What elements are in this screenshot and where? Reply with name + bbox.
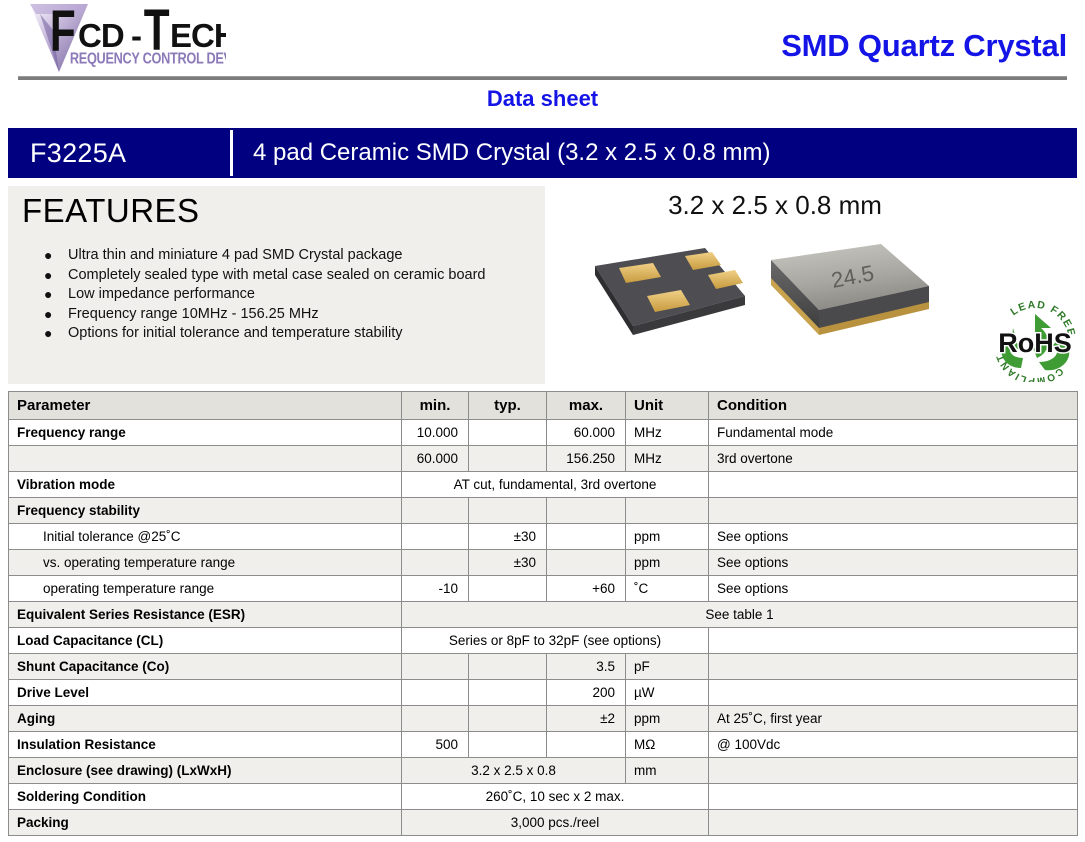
cell-max: ±2 [547, 706, 626, 732]
cell-condition: See options [709, 576, 1078, 602]
cell-max [547, 732, 626, 758]
part-banner: F3225A 4 pad Ceramic SMD Crystal (3.2 x … [8, 128, 1077, 178]
cell-span-value: 3,000 pcs./reel [402, 810, 709, 836]
cell-span-value: AT cut, fundamental, 3rd overtone [402, 472, 709, 498]
logo-icon: F CD - T ECH REQUENCY CONTROL DEVICES [26, 0, 226, 78]
cell-parameter: Shunt Capacitance (Co) [9, 654, 402, 680]
crystal-package-photo: 24.5 [585, 238, 965, 378]
cell-condition: See options [709, 550, 1078, 576]
rohs-lead-free-icon: LEAD FREE COMPLIANT RoHS [989, 298, 1081, 382]
cell-min [402, 706, 469, 732]
table-row: Shunt Capacitance (Co)3.5pF [9, 654, 1078, 680]
features-panel: FEATURES ●Ultra thin and miniature 4 pad… [8, 186, 545, 384]
cell-parameter: Frequency stability [9, 498, 402, 524]
cell-min [402, 550, 469, 576]
table-row: Initial tolerance @25˚C±30ppmSee options [9, 524, 1078, 550]
cell-parameter: Soldering Condition [9, 784, 402, 810]
cell-min [402, 524, 469, 550]
cell-parameter: Frequency range [9, 420, 402, 446]
specification-table: Parameter min. typ. max. Unit Condition … [8, 391, 1078, 836]
cell-typ: ±30 [469, 550, 547, 576]
cell-typ [469, 446, 547, 472]
feature-item: ●Low impedance performance [36, 285, 486, 305]
col-header-min: min. [402, 392, 469, 420]
feature-item-label: Frequency range 10MHz - 156.25 MHz [68, 306, 319, 322]
cell-unit: MHz [626, 446, 709, 472]
company-logo: F CD - T ECH REQUENCY CONTROL DEVICES [26, 0, 226, 78]
bullet-icon: ● [44, 266, 52, 286]
cell-span-value: Series or 8pF to 32pF (see options) [402, 628, 709, 654]
rohs-wordmark: RoHS [998, 328, 1072, 358]
cell-condition: At 25˚C, first year [709, 706, 1078, 732]
part-description: 4 pad Ceramic SMD Crystal (3.2 x 2.5 x 0… [233, 128, 1077, 178]
cell-unit: MΩ [626, 732, 709, 758]
cell-max [547, 524, 626, 550]
col-header-unit: Unit [626, 392, 709, 420]
bullet-icon: ● [44, 324, 52, 344]
cell-max: 200 [547, 680, 626, 706]
cell-span-value: 260˚C, 10 sec x 2 max. [402, 784, 709, 810]
svg-text:ECH: ECH [170, 17, 226, 54]
cell-condition: Fundamental mode [709, 420, 1078, 446]
cell-condition [709, 472, 1078, 498]
cell-min: -10 [402, 576, 469, 602]
feature-item-label: Completely sealed type with metal case s… [68, 267, 486, 283]
cell-unit: pF [626, 654, 709, 680]
cell-span-value: 3.2 x 2.5 x 0.8 [402, 758, 626, 784]
table-row: Drive Level200µW [9, 680, 1078, 706]
features-heading: FEATURES [22, 192, 200, 230]
table-row: Load Capacitance (CL)Series or 8pF to 32… [9, 628, 1078, 654]
table-row: Aging±2ppmAt 25˚C, first year [9, 706, 1078, 732]
cell-max [547, 498, 626, 524]
cell-max [547, 550, 626, 576]
cell-typ [469, 576, 547, 602]
product-image-area: 3.2 x 2.5 x 0.8 mm [545, 186, 1085, 384]
table-header-row: Parameter min. typ. max. Unit Condition [9, 392, 1078, 420]
table-row: Enclosure (see drawing) (LxWxH)3.2 x 2.5… [9, 758, 1078, 784]
cell-condition: 3rd overtone [709, 446, 1078, 472]
cell-parameter: Equivalent Series Resistance (ESR) [9, 602, 402, 628]
cell-unit: ppm [626, 706, 709, 732]
cell-typ [469, 654, 547, 680]
logo-tagline: REQUENCY CONTROL DEVICES [70, 51, 226, 69]
feature-item: ●Options for initial tolerance and tempe… [36, 324, 486, 344]
cell-condition [709, 498, 1078, 524]
table-row: Equivalent Series Resistance (ESR)See ta… [9, 602, 1078, 628]
cell-condition [709, 680, 1078, 706]
cell-min: 10.000 [402, 420, 469, 446]
cell-unit: MHz [626, 420, 709, 446]
cell-min [402, 680, 469, 706]
page-title: SMD Quartz Crystal [781, 28, 1067, 64]
bullet-icon: ● [44, 246, 52, 266]
cell-condition [709, 810, 1078, 836]
cell-unit: mm [626, 758, 709, 784]
cell-parameter: Enclosure (see drawing) (LxWxH) [9, 758, 402, 784]
part-number: F3225A [8, 128, 230, 178]
cell-parameter [9, 446, 402, 472]
cell-min: 60.000 [402, 446, 469, 472]
cell-max: +60 [547, 576, 626, 602]
cell-parameter: vs. operating temperature range [9, 550, 402, 576]
table-row: vs. operating temperature range±30ppmSee… [9, 550, 1078, 576]
cell-parameter: Insulation Resistance [9, 732, 402, 758]
features-list: ●Ultra thin and miniature 4 pad SMD Crys… [36, 246, 486, 344]
cell-unit: µW [626, 680, 709, 706]
svg-text:CD: CD [78, 17, 124, 54]
cell-typ [469, 706, 547, 732]
bullet-icon: ● [44, 285, 52, 305]
cell-condition [709, 784, 1078, 810]
cell-max: 3.5 [547, 654, 626, 680]
header-divider [18, 76, 1067, 80]
table-row: Vibration modeAT cut, fundamental, 3rd o… [9, 472, 1078, 498]
cell-parameter: Drive Level [9, 680, 402, 706]
col-header-condition: Condition [709, 392, 1078, 420]
table-row: operating temperature range-10+60˚C See … [9, 576, 1078, 602]
cell-min [402, 654, 469, 680]
cell-typ: ±30 [469, 524, 547, 550]
feature-item-label: Ultra thin and miniature 4 pad SMD Cryst… [68, 247, 402, 263]
feature-item: ●Ultra thin and miniature 4 pad SMD Crys… [36, 246, 486, 266]
package-dimensions-label: 3.2 x 2.5 x 0.8 mm [545, 190, 1005, 221]
cell-condition: See options [709, 524, 1078, 550]
table-body: Frequency range10.00060.000MHzFundamenta… [9, 420, 1078, 836]
cell-min [402, 498, 469, 524]
crystal-top-view: 24.5 [771, 244, 929, 335]
svg-text:-: - [131, 17, 142, 54]
cell-unit: ˚C [626, 576, 709, 602]
cell-condition [709, 628, 1078, 654]
col-header-typ: typ. [469, 392, 547, 420]
table-row: Insulation Resistance500MΩ@ 100Vdc [9, 732, 1078, 758]
page-header: F CD - T ECH REQUENCY CONTROL DEVICES SM… [0, 0, 1085, 126]
table-row: Soldering Condition260˚C, 10 sec x 2 max… [9, 784, 1078, 810]
table-row: Frequency range10.00060.000MHzFundamenta… [9, 420, 1078, 446]
cell-parameter: Vibration mode [9, 472, 402, 498]
cell-parameter: Initial tolerance @25˚C [9, 524, 402, 550]
feature-item: ●Frequency range 10MHz - 156.25 MHz [36, 305, 486, 325]
cell-max: 60.000 [547, 420, 626, 446]
bullet-icon: ● [44, 305, 52, 325]
cell-max: 156.250 [547, 446, 626, 472]
cell-parameter: operating temperature range [9, 576, 402, 602]
feature-item-label: Low impedance performance [68, 286, 255, 302]
cell-typ [469, 680, 547, 706]
cell-condition [709, 758, 1078, 784]
cell-typ [469, 420, 547, 446]
cell-min: 500 [402, 732, 469, 758]
datasheet-subtitle: Data sheet [0, 86, 1085, 112]
cell-typ [469, 732, 547, 758]
cell-condition [709, 654, 1078, 680]
table-row: 60.000156.250MHz3rd overtone [9, 446, 1078, 472]
cell-unit [626, 498, 709, 524]
table-row: Packing3,000 pcs./reel [9, 810, 1078, 836]
cell-condition: @ 100Vdc [709, 732, 1078, 758]
col-header-max: max. [547, 392, 626, 420]
feature-item-label: Options for initial tolerance and temper… [68, 325, 402, 341]
col-header-parameter: Parameter [9, 392, 402, 420]
cell-unit: ppm [626, 550, 709, 576]
crystal-bottom-view [595, 248, 745, 335]
cell-typ [469, 498, 547, 524]
feature-item: ●Completely sealed type with metal case … [36, 266, 486, 286]
cell-span-value: See table 1 [402, 602, 1078, 628]
cell-parameter: Aging [9, 706, 402, 732]
table-row: Frequency stability [9, 498, 1078, 524]
cell-parameter: Load Capacitance (CL) [9, 628, 402, 654]
cell-unit: ppm [626, 524, 709, 550]
cell-parameter: Packing [9, 810, 402, 836]
